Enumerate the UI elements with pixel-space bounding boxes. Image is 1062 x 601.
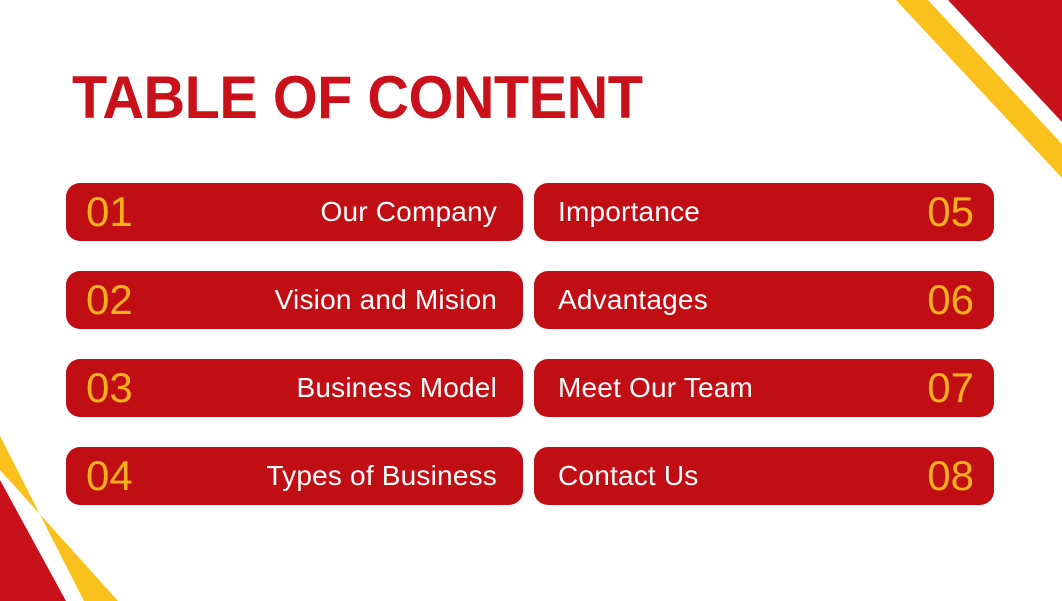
toc-label: Meet Our Team <box>558 372 753 404</box>
toc-item-03[interactable]: 03 Business Model <box>66 359 523 417</box>
toc-item-02[interactable]: 02 Vision and Mision <box>66 271 523 329</box>
toc-item-06[interactable]: Advantages 06 <box>534 271 994 329</box>
toc-number: 05 <box>927 189 974 235</box>
toc-label: Our Company <box>321 196 498 228</box>
page-title: TABLE OF CONTENT <box>72 62 642 134</box>
corner-stripe-top-right <box>896 0 1062 178</box>
toc-number: 03 <box>86 365 133 411</box>
toc-number: 04 <box>86 453 133 499</box>
toc-item-08[interactable]: Contact Us 08 <box>534 447 994 505</box>
toc-item-07[interactable]: Meet Our Team 07 <box>534 359 994 417</box>
table-of-contents: 01 Our Company Importance 05 02 Vision a… <box>66 183 994 505</box>
corner-triangle-bottom-left <box>0 480 66 601</box>
toc-number: 08 <box>927 453 974 499</box>
toc-number: 02 <box>86 277 133 323</box>
toc-number: 06 <box>927 277 974 323</box>
toc-number: 07 <box>927 365 974 411</box>
toc-label: Types of Business <box>266 460 497 492</box>
corner-triangle-top-right <box>948 0 1062 122</box>
toc-item-01[interactable]: 01 Our Company <box>66 183 523 241</box>
slide-canvas: TABLE OF CONTENT 01 Our Company Importan… <box>0 0 1062 601</box>
toc-label: Importance <box>558 196 700 228</box>
toc-item-04[interactable]: 04 Types of Business <box>66 447 523 505</box>
toc-label: Business Model <box>297 372 497 404</box>
toc-label: Contact Us <box>558 460 699 492</box>
toc-item-05[interactable]: Importance 05 <box>534 183 994 241</box>
toc-number: 01 <box>86 189 133 235</box>
toc-label: Advantages <box>558 284 708 316</box>
toc-label: Vision and Mision <box>275 284 497 316</box>
